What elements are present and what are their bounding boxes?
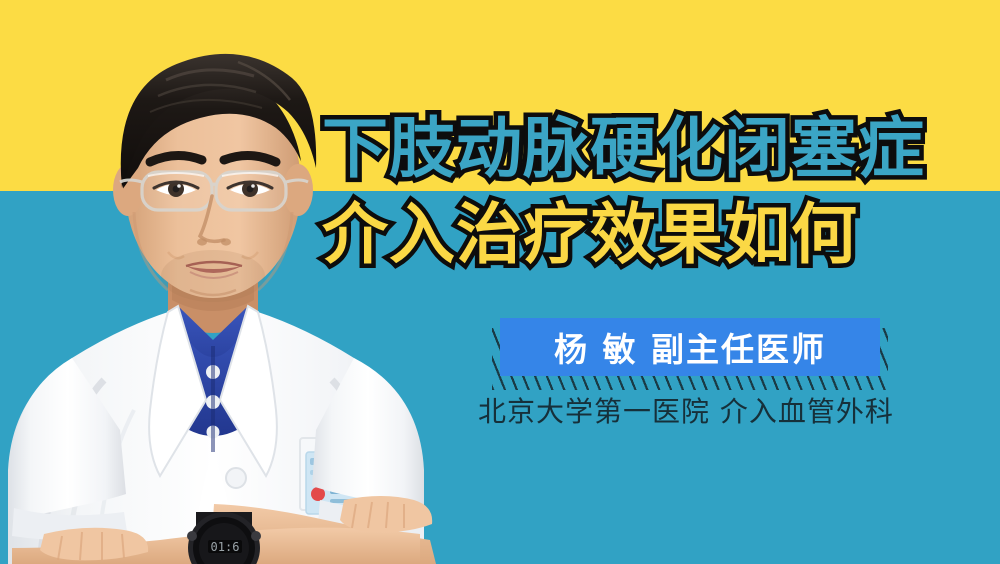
speaker-name-label: 杨 敏 副主任医师: [500, 318, 880, 376]
title-line-1: 下肢动脉硬化闭塞症: [322, 110, 982, 188]
doctor-portrait-illustration: 01:6: [0, 0, 480, 564]
svg-text:01:6: 01:6: [211, 540, 240, 554]
doctor-portrait: 01:6: [0, 0, 480, 564]
video-thumbnail: 01:6: [0, 0, 1000, 564]
speaker-name-block: 杨 敏 副主任医师: [492, 318, 888, 380]
speaker-affiliation: 北京大学第一医院 介入血管外科: [478, 393, 918, 431]
title-line-2: 介入治疗效果如何: [322, 196, 982, 274]
title-block: 下肢动脉硬化闭塞症 介入治疗效果如何: [322, 110, 982, 274]
